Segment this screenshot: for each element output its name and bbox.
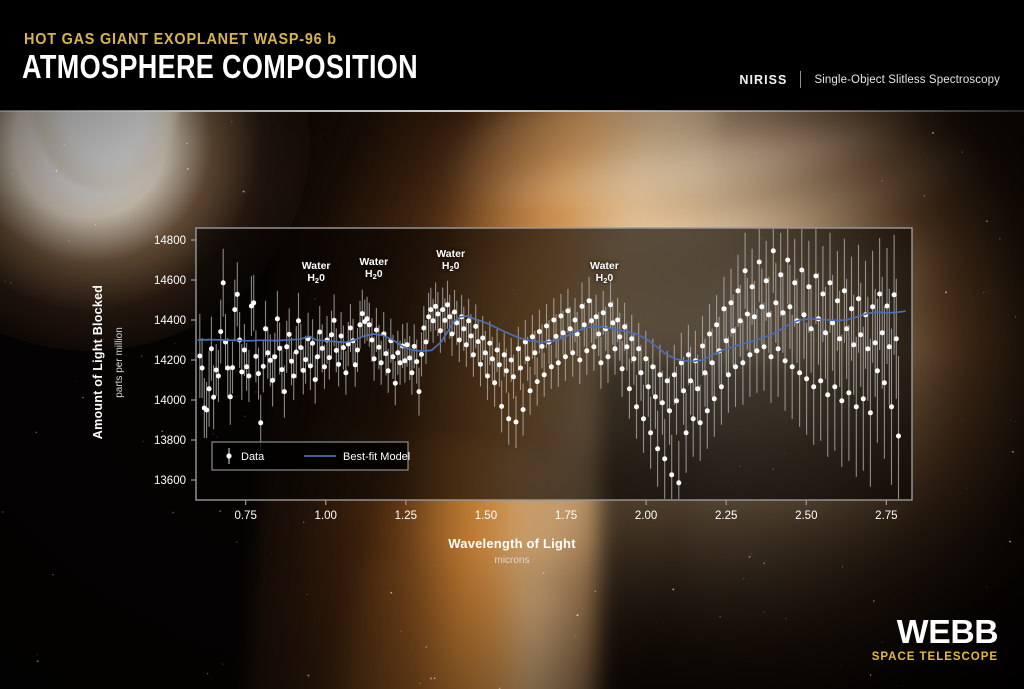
observing-mode: Single-Object Slitless Spectroscopy [814, 74, 1000, 86]
y-tick-label: 14000 [154, 395, 186, 407]
instrument-divider [800, 71, 801, 88]
water-annotation-formula: H20 [417, 260, 485, 272]
y-tick-label: 14600 [154, 275, 186, 287]
spectrum-chart: 0.751.001.251.501.752.002.252.502.751360… [0, 111, 1024, 689]
x-tick-label: 2.75 [875, 510, 897, 522]
legend-label-data: Data [241, 451, 265, 463]
x-tick-label: 2.50 [795, 510, 817, 522]
x-tick-label: 0.75 [234, 510, 256, 522]
chart-legend: DataBest-fit Model [212, 442, 410, 470]
x-tick-label: 1.75 [555, 510, 577, 522]
webb-logo-sub: SPACE TELESCOPE [872, 651, 998, 663]
x-tick-label: 2.00 [635, 510, 657, 522]
x-axis-units-text: microns [0, 555, 1024, 566]
y-tick-label: 14200 [154, 355, 186, 367]
header-bar: HOT GAS GIANT EXOPLANET WASP-96 b ATMOSP… [0, 0, 1024, 111]
y-axis-title-text: Amount of Light Blocked [91, 285, 105, 439]
water-annotation-formula: H20 [570, 272, 638, 284]
x-tick-label: 1.50 [475, 510, 497, 522]
y-tick-label: 14400 [154, 315, 186, 327]
x-tick-label: 1.25 [395, 510, 417, 522]
y-axis-units: parts per million [109, 295, 129, 430]
plot-svg: 0.751.001.251.501.752.002.252.502.751360… [0, 111, 1024, 689]
x-tick-label: 1.00 [315, 510, 337, 522]
webb-logo: WEBB SPACE TELESCOPE [872, 617, 998, 663]
y-tick-label: 13800 [154, 435, 186, 447]
page-title: ATMOSPHERE COMPOSITION [22, 50, 418, 83]
water-annotation: WaterH20 [340, 256, 408, 281]
instrument-info: NIRISS Single-Object Slitless Spectrosco… [739, 71, 1000, 88]
webb-logo-main: WEBB [869, 617, 998, 647]
water-annotation-label: Water [417, 248, 485, 260]
water-annotation-label: Water [570, 260, 638, 272]
infographic-root: 0.751.001.251.501.752.002.252.502.751360… [0, 0, 1024, 689]
header-rule [0, 110, 1024, 112]
instrument-name: NIRISS [739, 73, 787, 87]
x-axis-title-text: Wavelength of Light [0, 536, 1024, 551]
water-annotation-label: Water [340, 256, 408, 268]
x-axis-title-group: Wavelength of Light microns [0, 536, 1024, 566]
header-eyebrow: HOT GAS GIANT EXOPLANET WASP-96 b [24, 31, 337, 49]
y-tick-label: 13600 [154, 475, 186, 487]
legend-label-model: Best-fit Model [343, 451, 410, 463]
y-tick-label: 14800 [154, 235, 186, 247]
x-tick-label: 2.25 [715, 510, 737, 522]
water-annotation: WaterH20 [570, 260, 638, 285]
water-annotation-formula: H20 [340, 268, 408, 280]
water-annotation: WaterH20 [417, 248, 485, 273]
y-axis-units-text: parts per million [114, 327, 125, 398]
